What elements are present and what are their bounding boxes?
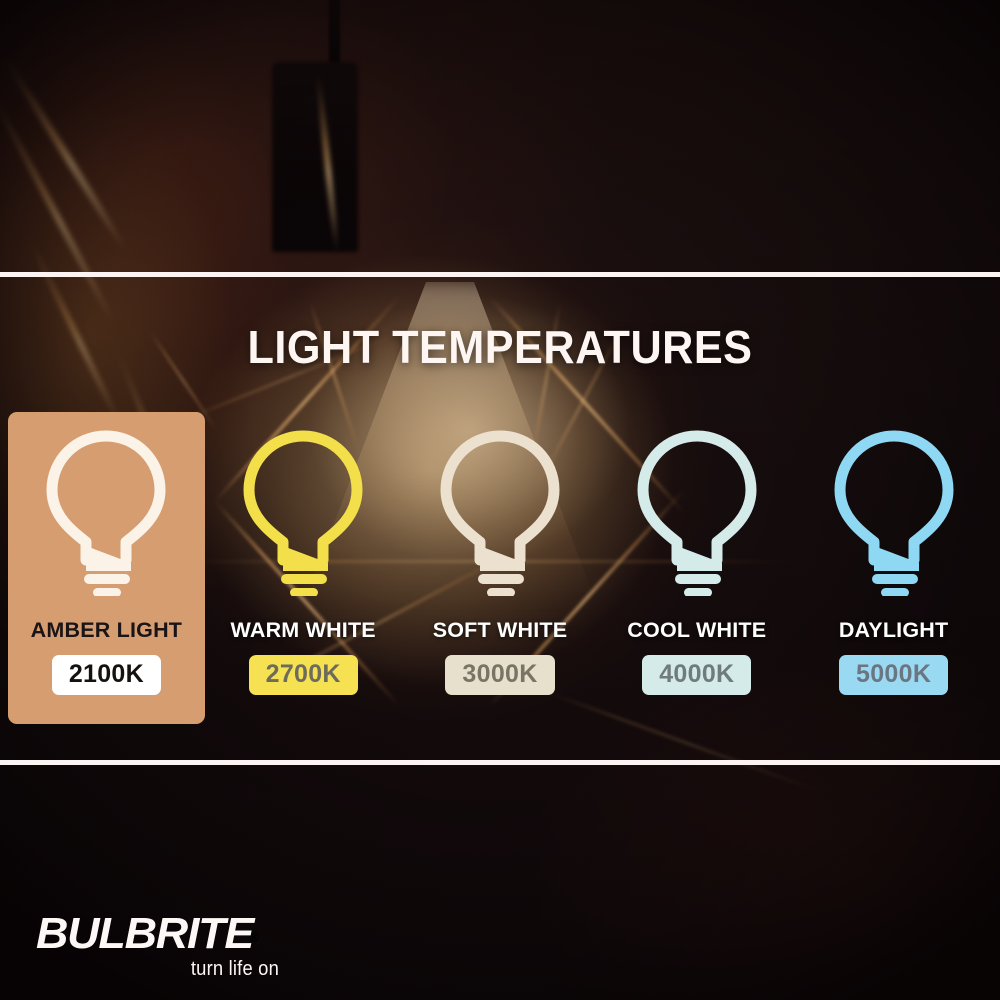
temperature-card-amber-light[interactable]: AMBER LIGHT 2100K [8, 412, 205, 724]
temperature-label: DAYLIGHT [839, 618, 949, 643]
brand-wordmark: BULBRITE [36, 912, 253, 956]
temperature-label: COOL WHITE [627, 618, 766, 643]
infographic-canvas: LIGHT TEMPERATURES AMBER LIGHT 2100K [0, 0, 1000, 1000]
divider-top [0, 272, 1000, 277]
temperature-card-daylight[interactable]: DAYLIGHT 5000K [795, 412, 992, 724]
lightbulb-icon [622, 428, 772, 596]
temperature-card-soft-white[interactable]: SOFT WHITE 3000K [402, 412, 599, 724]
kelvin-badge: 2700K [249, 655, 358, 695]
brand-tagline: turn life on [55, 958, 279, 981]
lightbulb-icon [819, 428, 969, 596]
lightbulb-icon [425, 428, 575, 596]
temperature-label: SOFT WHITE [433, 618, 568, 643]
brand-logo: BULBRITE® turn life on [36, 912, 306, 981]
temperature-label: AMBER LIGHT [31, 618, 183, 643]
kelvin-badge: 3000K [445, 655, 554, 695]
kelvin-badge: 4000K [642, 655, 751, 695]
temperature-label: WARM WHITE [231, 618, 376, 643]
lightbulb-icon [31, 428, 181, 596]
temperature-card-cool-white[interactable]: COOL WHITE 4000K [598, 412, 795, 724]
lightbulb-icon [228, 428, 378, 596]
temperature-card-row: AMBER LIGHT 2100K WARM WHITE 2700K [8, 412, 992, 724]
divider-bottom [0, 760, 1000, 765]
kelvin-badge: 2100K [52, 655, 161, 695]
temperature-card-warm-white[interactable]: WARM WHITE 2700K [205, 412, 402, 724]
page-title: LIGHT TEMPERATURES [30, 320, 970, 374]
brand-wordmark-line: BULBRITE® [36, 912, 306, 956]
kelvin-badge: 5000K [839, 655, 948, 695]
